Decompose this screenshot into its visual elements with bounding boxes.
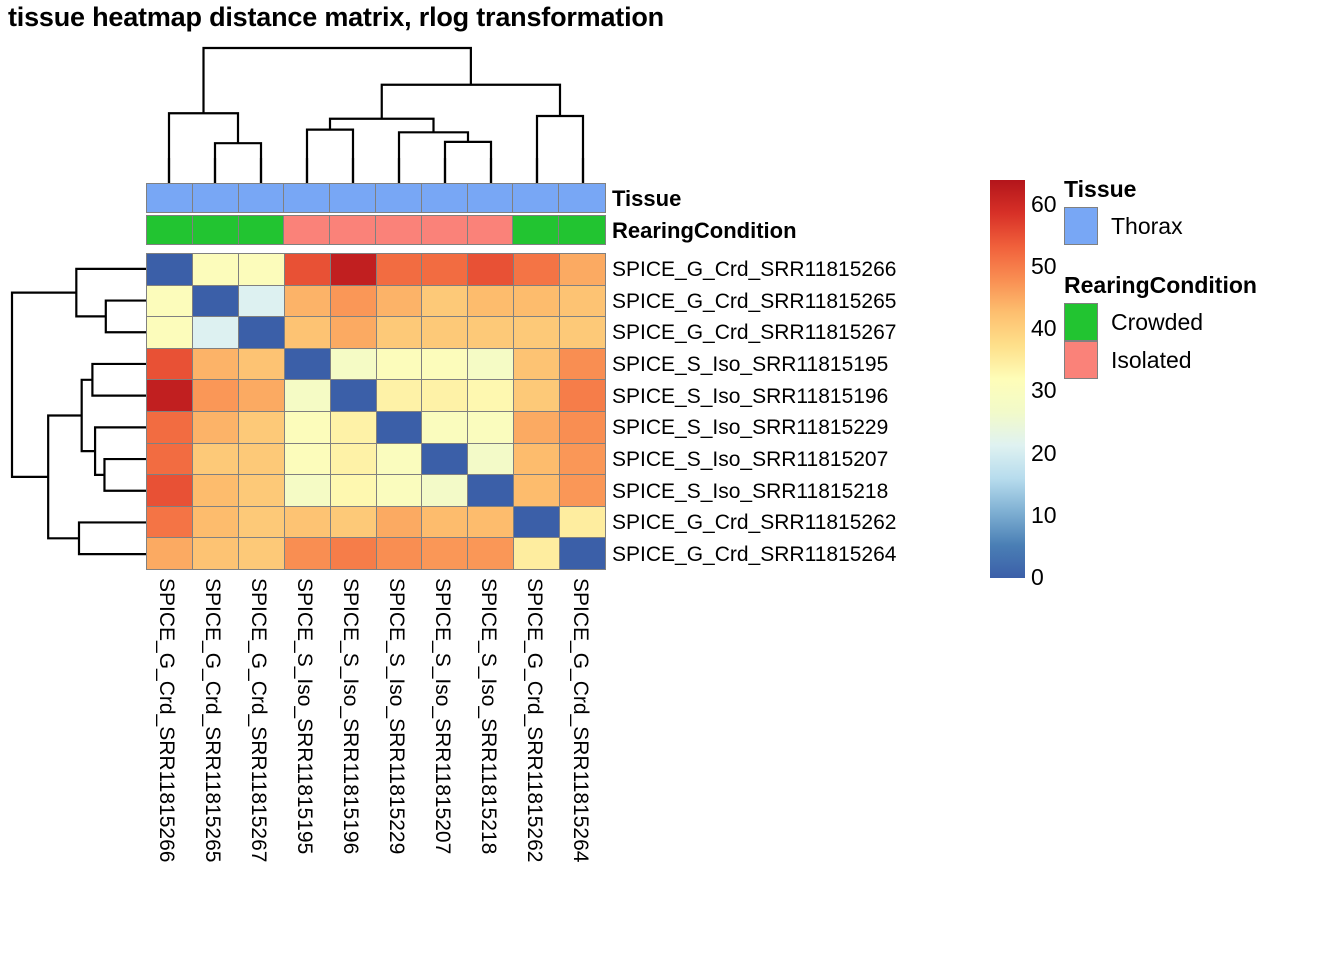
heatmap-cell: [514, 444, 559, 475]
heatmap-cell: [377, 507, 422, 538]
color-scale-tick-label: 20: [1031, 442, 1057, 465]
heatmap-cell: [422, 254, 467, 285]
heatmap-cell: [377, 412, 422, 443]
heatmap-cell: [514, 412, 559, 443]
column-dendrogram: [146, 44, 606, 184]
annotation-cell-rearing: [376, 216, 422, 244]
legend-swatch-isolated: [1064, 341, 1098, 379]
annotation-cell-tissue: [559, 184, 605, 212]
heatmap-cell: [560, 412, 605, 443]
legend-swatch-crowded: [1064, 303, 1098, 341]
heatmap-cell: [239, 254, 284, 285]
annotation-cell-tissue: [284, 184, 330, 212]
heatmap-cell: [560, 507, 605, 538]
legend-item-thorax[interactable]: Thorax: [1064, 207, 1183, 245]
heatmap-cell: [560, 349, 605, 380]
legend-title-tissue: Tissue: [1064, 176, 1183, 203]
row-label: SPICE_S_Iso_SRR11815218: [612, 481, 888, 502]
heatmap-cell: [193, 349, 238, 380]
heatmap-cell: [560, 444, 605, 475]
heatmap-cell: [285, 412, 330, 443]
legend-label-thorax: Thorax: [1111, 213, 1183, 240]
heatmap-cell: [239, 444, 284, 475]
heatmap-cell: [331, 507, 376, 538]
heatmap-cell: [147, 475, 192, 506]
heatmap-cell: [514, 349, 559, 380]
heatmap-cell: [468, 412, 513, 443]
annotation-bar-rearingcondition: [146, 215, 606, 245]
heatmap-cell: [147, 412, 192, 443]
color-scale-bar: [990, 180, 1025, 578]
heatmap-cell: [468, 444, 513, 475]
annotation-cell-tissue: [513, 184, 559, 212]
heatmap-cell: [285, 380, 330, 411]
row-label: SPICE_G_Crd_SRR11815266: [612, 259, 896, 280]
annotation-label-rearingcondition: RearingCondition: [612, 218, 797, 244]
heatmap-cell: [560, 254, 605, 285]
heatmap-cell: [422, 475, 467, 506]
heatmap-cell: [239, 317, 284, 348]
heatmap-cell: [468, 254, 513, 285]
column-label: SPICE_S_Iso_SRR11815207: [432, 578, 453, 854]
heatmap-cell: [377, 349, 422, 380]
heatmap-cell: [285, 349, 330, 380]
heatmap-cell: [377, 286, 422, 317]
row-label: SPICE_G_Crd_SRR11815262: [612, 512, 896, 533]
heatmap-cell: [285, 317, 330, 348]
annotation-cell-tissue: [376, 184, 422, 212]
heatmap-cell: [239, 412, 284, 443]
heatmap-cell: [239, 507, 284, 538]
color-scale-tick-label: 0: [1031, 566, 1044, 589]
annotation-cell-tissue: [468, 184, 514, 212]
heatmap-cell: [331, 286, 376, 317]
heatmap-cell: [239, 475, 284, 506]
heatmap-cell: [422, 317, 467, 348]
heatmap-cell: [560, 286, 605, 317]
heatmap-cell: [468, 380, 513, 411]
column-label: SPICE_S_Iso_SRR11815218: [478, 578, 499, 854]
heatmap-cell: [377, 317, 422, 348]
heatmap-cell: [560, 475, 605, 506]
heatmap-figure: tissue heatmap distance matrix, rlog tra…: [0, 0, 1344, 960]
heatmap-cell: [468, 475, 513, 506]
heatmap-cell: [147, 349, 192, 380]
row-label: SPICE_S_Iso_SRR11815207: [612, 449, 888, 470]
heatmap-cell: [560, 317, 605, 348]
heatmap-cell: [285, 444, 330, 475]
heatmap-cell: [468, 317, 513, 348]
heatmap-cell: [193, 412, 238, 443]
annotation-cell-tissue: [239, 184, 285, 212]
heatmap-cell: [193, 507, 238, 538]
heatmap-cell: [147, 507, 192, 538]
heatmap-cell: [422, 507, 467, 538]
color-scale-tick-label: 10: [1031, 504, 1057, 527]
page-title: tissue heatmap distance matrix, rlog tra…: [8, 2, 664, 33]
heatmap-cell: [239, 286, 284, 317]
heatmap-cell: [422, 444, 467, 475]
heatmap-cell: [193, 254, 238, 285]
legend-tissue: Tissue Thorax: [1064, 176, 1183, 245]
column-label: SPICE_G_Crd_SRR11815267: [248, 578, 269, 862]
heatmap-cell: [331, 380, 376, 411]
heatmap-cell: [331, 475, 376, 506]
annotation-cell-rearing: [468, 216, 514, 244]
heatmap-cell: [331, 412, 376, 443]
heatmap-cell: [377, 538, 422, 569]
column-labels: SPICE_G_Crd_SRR11815266SPICE_G_Crd_SRR11…: [146, 578, 606, 958]
heatmap-cell: [514, 254, 559, 285]
heatmap-cell: [422, 538, 467, 569]
heatmap-cell: [285, 254, 330, 285]
row-dendrogram: [8, 253, 146, 570]
column-label: SPICE_S_Iso_SRR11815229: [386, 578, 407, 854]
heatmap-cell: [514, 317, 559, 348]
heatmap-cell: [285, 507, 330, 538]
legend-label-isolated: Isolated: [1111, 347, 1192, 374]
column-label: SPICE_G_Crd_SRR11815265: [202, 578, 223, 862]
heatmap-cell: [193, 380, 238, 411]
column-label: SPICE_S_Iso_SRR11815196: [340, 578, 361, 854]
annotation-cell-rearing: [284, 216, 330, 244]
annotation-cell-tissue: [193, 184, 239, 212]
annotation-cell-rearing: [147, 216, 193, 244]
heatmap-cell: [514, 380, 559, 411]
row-label: SPICE_S_Iso_SRR11815196: [612, 386, 888, 407]
heatmap-cell: [285, 538, 330, 569]
row-label: SPICE_S_Iso_SRR11815195: [612, 354, 888, 375]
heatmap-cell: [377, 254, 422, 285]
annotation-cell-tissue: [147, 184, 193, 212]
heatmap-cell: [147, 444, 192, 475]
heatmap-cell: [147, 538, 192, 569]
annotation-cell-rearing: [193, 216, 239, 244]
heatmap-cell: [422, 286, 467, 317]
heatmap-cell: [468, 286, 513, 317]
annotation-cell-rearing: [422, 216, 468, 244]
heatmap-cell: [377, 380, 422, 411]
annotation-cell-rearing: [330, 216, 376, 244]
row-labels: SPICE_G_Crd_SRR11815266SPICE_G_Crd_SRR11…: [612, 253, 1012, 570]
heatmap-cell: [147, 254, 192, 285]
heatmap-cell: [285, 286, 330, 317]
legend-item-isolated[interactable]: Isolated: [1064, 341, 1257, 379]
column-label: SPICE_G_Crd_SRR11815266: [156, 578, 177, 862]
column-label: SPICE_G_Crd_SRR11815262: [524, 578, 545, 862]
column-label: SPICE_G_Crd_SRR11815264: [570, 578, 591, 862]
row-label: SPICE_G_Crd_SRR11815267: [612, 322, 896, 343]
row-label: SPICE_G_Crd_SRR11815265: [612, 291, 896, 312]
heatmap-cell: [239, 538, 284, 569]
color-scale-tick-label: 60: [1031, 193, 1057, 216]
legend-label-crowded: Crowded: [1111, 309, 1203, 336]
heatmap-cell: [331, 349, 376, 380]
heatmap-cell: [468, 349, 513, 380]
heatmap-cell: [422, 349, 467, 380]
annotation-cell-rearing: [239, 216, 285, 244]
heatmap-cell: [377, 475, 422, 506]
heatmap-cell: [331, 538, 376, 569]
annotation-label-tissue: Tissue: [612, 186, 681, 212]
color-scale-tick-label: 30: [1031, 379, 1057, 402]
heatmap-cell: [147, 380, 192, 411]
heatmap-cell: [193, 475, 238, 506]
annotation-cell-rearing: [513, 216, 559, 244]
legend-swatch-thorax: [1064, 207, 1098, 245]
heatmap-cell: [422, 380, 467, 411]
row-label: SPICE_S_Iso_SRR11815229: [612, 417, 888, 438]
heatmap-cell: [193, 538, 238, 569]
heatmap-cell: [560, 380, 605, 411]
heatmap-cell: [193, 317, 238, 348]
heatmap-cell: [147, 317, 192, 348]
column-label: SPICE_S_Iso_SRR11815195: [294, 578, 315, 854]
heatmap-cell: [422, 412, 467, 443]
heatmap-cell: [331, 317, 376, 348]
row-label: SPICE_G_Crd_SRR11815264: [612, 544, 896, 565]
heatmap-cell: [514, 538, 559, 569]
heatmap-cell: [285, 475, 330, 506]
heatmap-cell: [514, 475, 559, 506]
heatmap-grid: [146, 253, 606, 570]
heatmap-cell: [377, 444, 422, 475]
annotation-cell-tissue: [330, 184, 376, 212]
annotation-bar-tissue: [146, 183, 606, 213]
heatmap-cell: [514, 286, 559, 317]
heatmap-cell: [239, 349, 284, 380]
heatmap-cell: [331, 254, 376, 285]
annotation-cell-rearing: [559, 216, 605, 244]
annotation-cell-tissue: [422, 184, 468, 212]
color-scale-gradient: [990, 180, 1025, 578]
heatmap-cell: [468, 507, 513, 538]
legend-title-rearingcondition: RearingCondition: [1064, 272, 1257, 299]
heatmap-cell: [193, 286, 238, 317]
color-scale-tick-label: 50: [1031, 255, 1057, 278]
heatmap-cell: [193, 444, 238, 475]
legend-item-crowded[interactable]: Crowded: [1064, 303, 1257, 341]
heatmap-cell: [514, 507, 559, 538]
heatmap-cell: [331, 444, 376, 475]
color-scale-tick-label: 40: [1031, 317, 1057, 340]
heatmap-cell: [560, 538, 605, 569]
heatmap-cell: [239, 380, 284, 411]
heatmap-cell: [147, 286, 192, 317]
heatmap-cell: [468, 538, 513, 569]
legend-rearingcondition: RearingCondition Crowded Isolated: [1064, 272, 1257, 379]
